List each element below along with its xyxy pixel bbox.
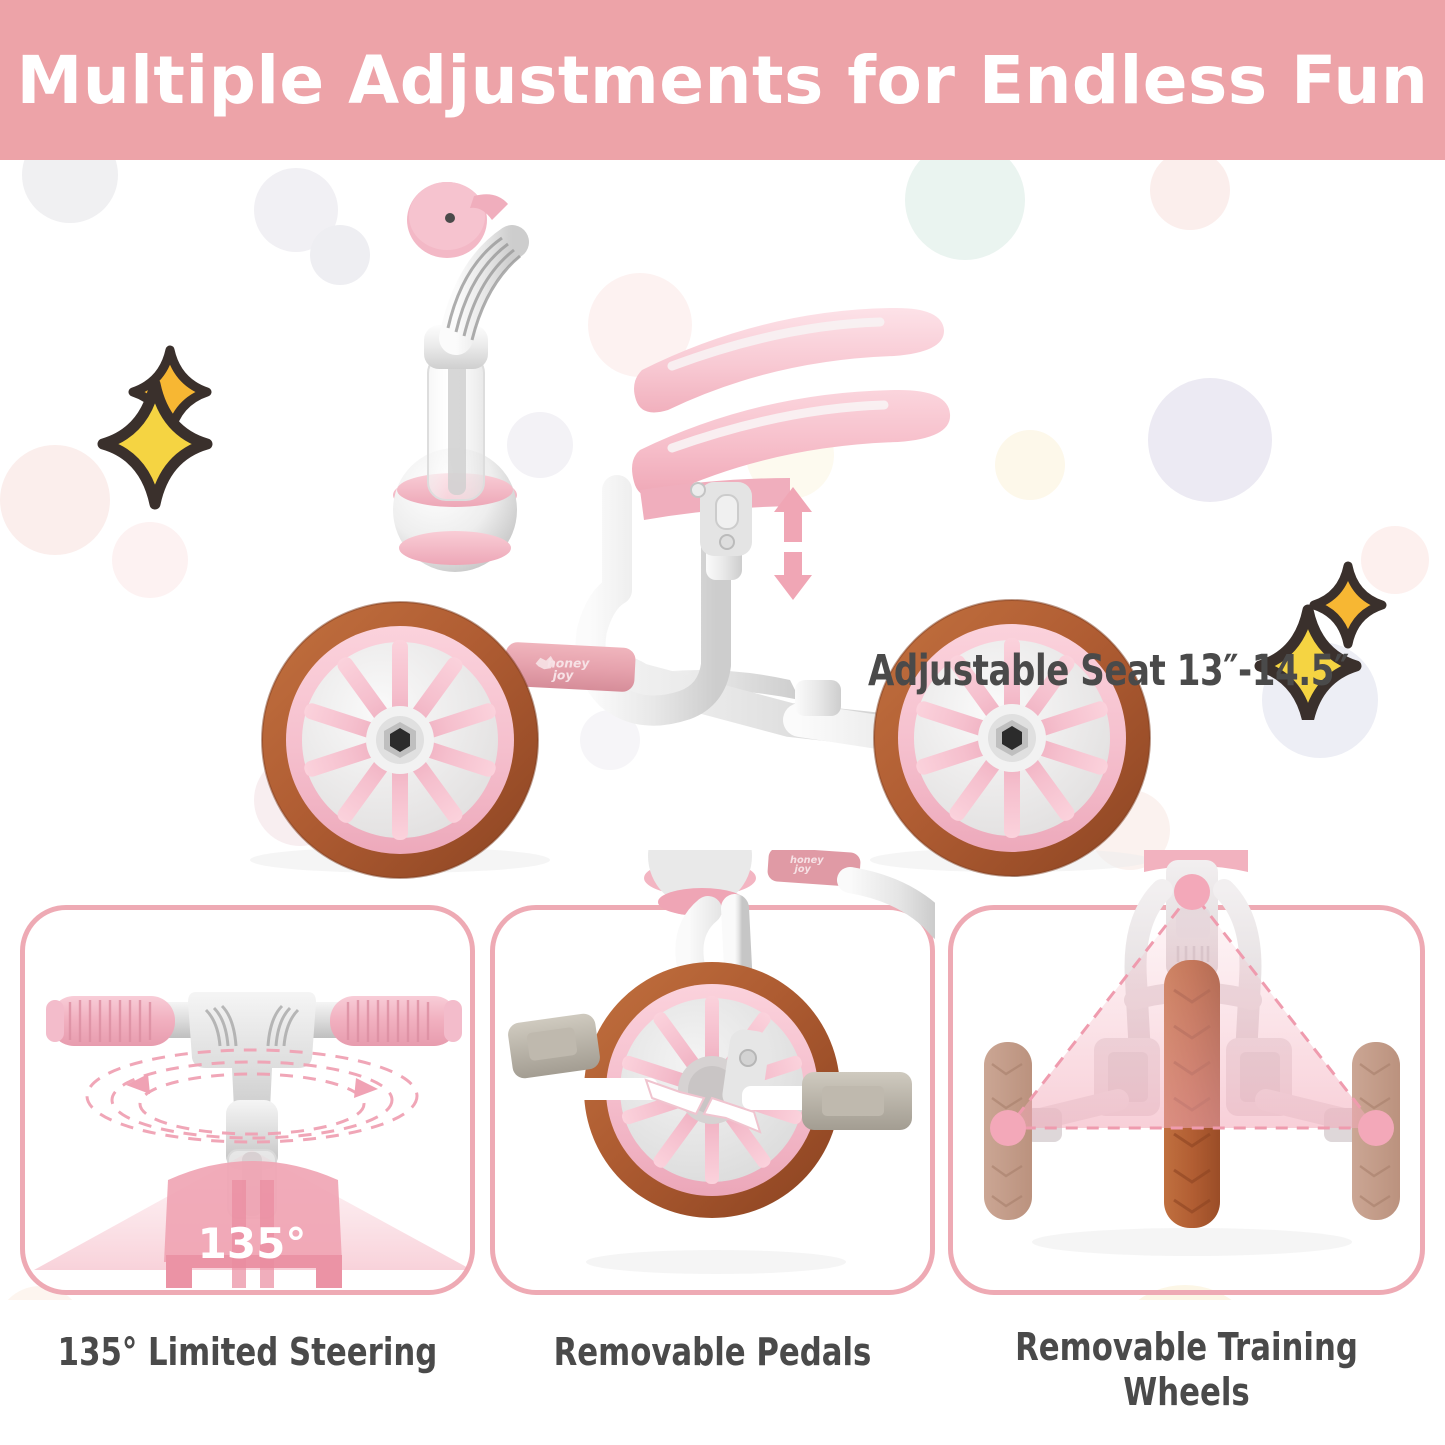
stability-dot-top — [1174, 874, 1210, 910]
stability-triangle-fill — [1008, 892, 1376, 1128]
page-title: Multiple Adjustments for Endless Fun — [17, 42, 1429, 119]
infographic-page: Multiple Adjustments for Endless Fun — [0, 0, 1445, 1445]
sparkle-icon-left — [95, 310, 305, 510]
svg-text:joy: joy — [551, 669, 575, 683]
stability-dot-right — [1358, 1110, 1394, 1146]
angle-badge-text: 135° — [198, 1219, 307, 1268]
caption-line-1: Removable Training — [972, 1325, 1401, 1370]
svg-text:joy: joy — [793, 864, 812, 875]
panel-limited-steering[interactable]: 135° — [20, 905, 475, 1295]
feature-panels: 135° — [0, 885, 1445, 1305]
caption-line-2: Wheels — [972, 1370, 1401, 1415]
pedal-mount — [795, 680, 841, 716]
header-banner: Multiple Adjustments for Endless Fun — [0, 0, 1445, 160]
stability-dot-left — [990, 1110, 1026, 1146]
rear-wheel — [874, 600, 1150, 876]
training-wheels-front-view-illustration — [948, 850, 1425, 1290]
pedal-detail-illustration: honey joy — [490, 850, 935, 1290]
hero-section: honey joy — [0, 160, 1445, 885]
panel-2-image-clip: honey joy — [490, 850, 935, 1290]
caption-removable-pedals: Removable Pedals — [512, 1330, 913, 1375]
panel-3-image-clip — [948, 850, 1425, 1290]
tricycle-side-view-illustration: honey joy — [0, 160, 1445, 885]
adjustable-seat-label: Adjustable Seat 13″-14.5″ — [868, 646, 1349, 696]
caption-limited-steering: 135° Limited Steering — [43, 1330, 453, 1375]
panel-1-image-clip: 135° — [20, 850, 475, 1290]
handlebar-stem — [456, 242, 512, 338]
grip-right — [330, 996, 462, 1046]
panel-removable-pedals[interactable]: honey joy — [490, 905, 935, 1295]
grip-left — [46, 996, 175, 1046]
caption-removable-training-wheels: Removable Training Wheels — [972, 1325, 1401, 1415]
handlebar-top-view-illustration: 135° — [20, 850, 475, 1290]
panel-removable-training-wheels[interactable] — [948, 905, 1425, 1295]
front-wheel — [262, 602, 538, 878]
